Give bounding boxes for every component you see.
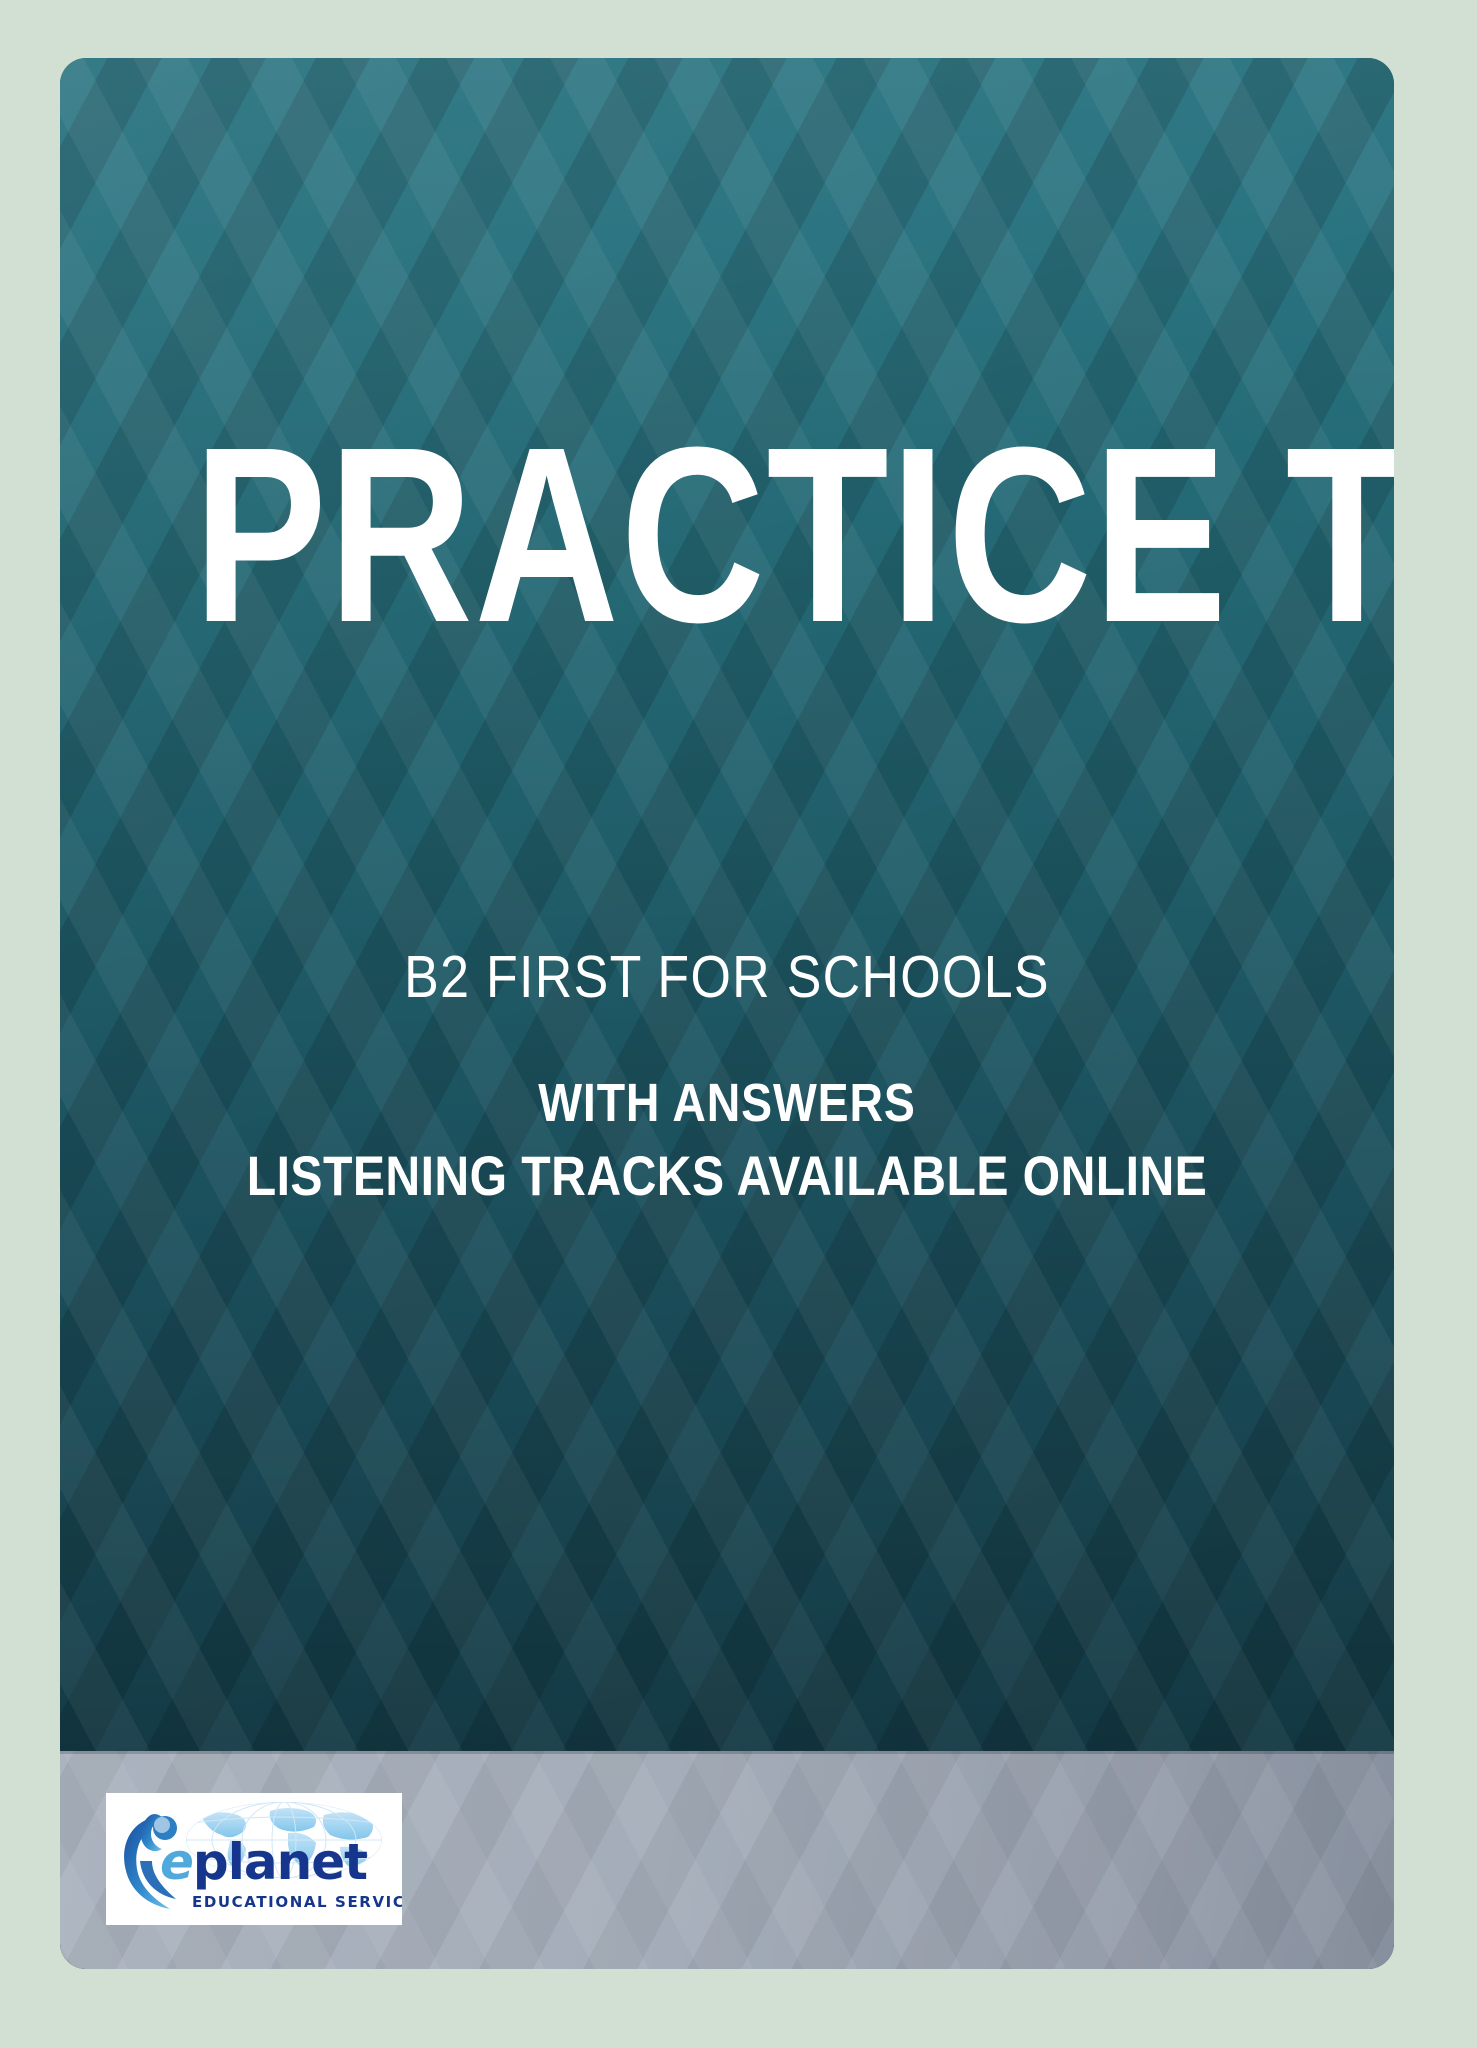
- cover-with-answers-label: WITH ANSWERS: [153, 1076, 1300, 1130]
- logo-tagline: EDUCATIONAL SERVICES: [192, 1893, 392, 1911]
- cover-listening-tracks-note: LISTENING TRACKS AVAILABLE ONLINE: [153, 1148, 1300, 1204]
- publisher-logo-inner: eplanet EDUCATIONAL SERVICES: [106, 1793, 402, 1925]
- book-cover: PRACTICE TESTS B2 FIRST FOR SCHOOLS WITH…: [60, 58, 1394, 1969]
- page-canvas: PRACTICE TESTS B2 FIRST FOR SCHOOLS WITH…: [0, 0, 1477, 2048]
- cover-text-block: PRACTICE TESTS B2 FIRST FOR SCHOOLS WITH…: [60, 58, 1394, 1969]
- logo-wordmark: eplanet: [160, 1833, 400, 1891]
- logo-brand-e: e: [160, 1833, 193, 1891]
- logo-brand-word: planet: [193, 1833, 367, 1891]
- cover-title: PRACTICE TESTS: [193, 410, 1260, 660]
- publisher-logo: eplanet EDUCATIONAL SERVICES: [106, 1793, 402, 1925]
- band-top-divider: [60, 1751, 1394, 1754]
- cover-bottom-band: eplanet EDUCATIONAL SERVICES: [60, 1751, 1394, 1969]
- cover-exam-level: B2 FIRST FOR SCHOOLS: [140, 948, 1314, 1007]
